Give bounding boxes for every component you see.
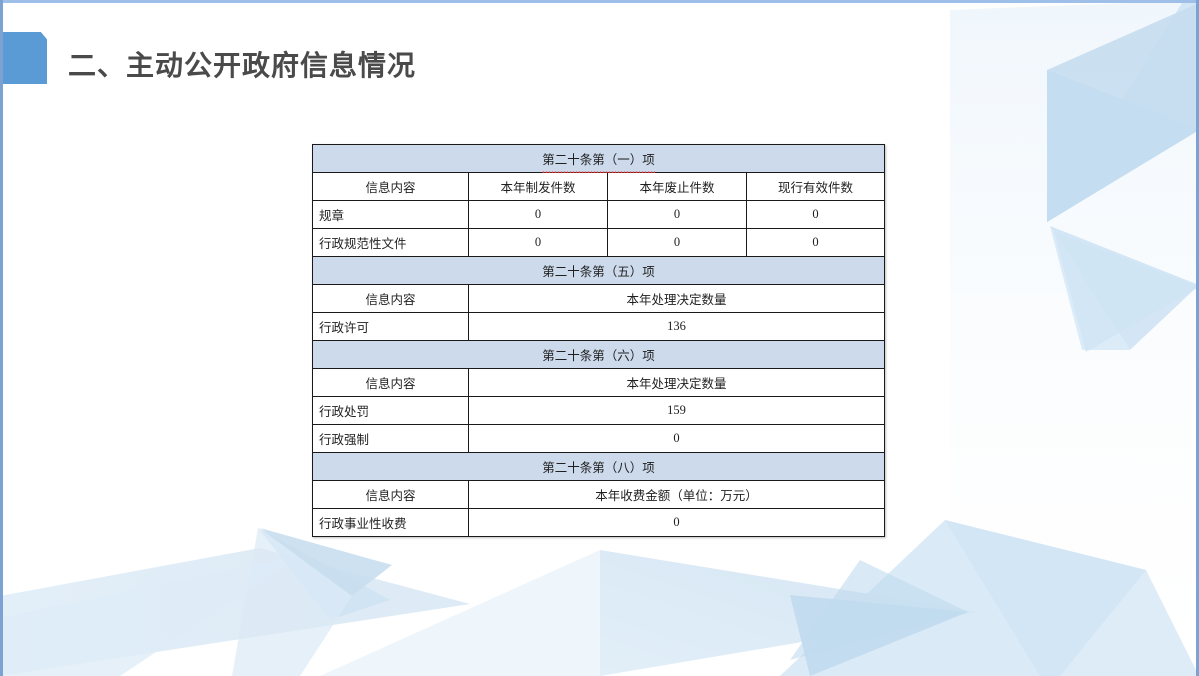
page-title: 二、主动公开政府信息情况 xyxy=(68,44,416,84)
row-label-rules: 规章 xyxy=(313,201,469,229)
section-band-2: 第二十条第（五）项 xyxy=(313,257,885,285)
cell-admin-penalty-count: 159 xyxy=(469,397,885,425)
cell-normative-issued: 0 xyxy=(469,229,608,257)
section-band-4-label: 第二十条第（八）项 xyxy=(542,457,655,476)
table-section-band-row: 第二十条第（一）项 xyxy=(313,145,885,173)
cell-admin-fees-amount: 0 xyxy=(469,509,885,537)
cell-normative-valid: 0 xyxy=(747,229,885,257)
row-label-admin-license: 行政许可 xyxy=(313,313,469,341)
slide-canvas: 二、主动公开政府信息情况 第二十条第（一）项 信息内容 本年制发件数 本年废止件… xyxy=(0,0,1199,676)
header-cell-issued: 本年制发件数 xyxy=(469,173,608,201)
cell-admin-license-count: 136 xyxy=(469,313,885,341)
cell-rules-valid: 0 xyxy=(747,201,885,229)
page-frame-top xyxy=(0,0,1199,3)
row-label-normative-docs: 行政规范性文件 xyxy=(313,229,469,257)
section-band-1: 第二十条第（一）项 xyxy=(313,145,885,173)
header-cell-info-content-4: 信息内容 xyxy=(313,481,469,509)
government-info-disclosure-table: 第二十条第（一）项 信息内容 本年制发件数 本年废止件数 现行有效件数 规章 0… xyxy=(312,144,884,537)
table-row: 行政事业性收费 0 xyxy=(313,509,885,537)
header-cell-decisions-3: 本年处理决定数量 xyxy=(469,369,885,397)
section-band-3: 第二十条第（六）项 xyxy=(313,341,885,369)
page-frame-left xyxy=(0,0,3,676)
cell-rules-abolished: 0 xyxy=(608,201,747,229)
header-cell-decisions-2: 本年处理决定数量 xyxy=(469,285,885,313)
table-row: 行政强制 0 xyxy=(313,425,885,453)
table-header-row: 信息内容 本年收费金额（单位：万元） xyxy=(313,481,885,509)
header-cell-info-content-2: 信息内容 xyxy=(313,285,469,313)
row-label-admin-coercion: 行政强制 xyxy=(313,425,469,453)
cell-admin-coercion-count: 0 xyxy=(469,425,885,453)
section-band-3-label: 第二十条第（六）项 xyxy=(542,345,655,364)
section-band-4: 第二十条第（八）项 xyxy=(313,453,885,481)
row-label-admin-fees: 行政事业性收费 xyxy=(313,509,469,537)
table-row: 行政许可 136 xyxy=(313,313,885,341)
table-section-band-row: 第二十条第（八）项 xyxy=(313,453,885,481)
table-row: 行政处罚 159 xyxy=(313,397,885,425)
header-cell-info-content: 信息内容 xyxy=(313,173,469,201)
table-row: 规章 0 0 0 xyxy=(313,201,885,229)
table-section-band-row: 第二十条第（六）项 xyxy=(313,341,885,369)
section-band-1-label: 第二十条第（一）项 xyxy=(542,149,655,168)
header-cell-valid: 现行有效件数 xyxy=(747,173,885,201)
header-cell-abolished: 本年废止件数 xyxy=(608,173,747,201)
row-label-admin-penalty: 行政处罚 xyxy=(313,397,469,425)
section-marker-icon xyxy=(3,32,47,84)
table-header-row: 信息内容 本年处理决定数量 xyxy=(313,285,885,313)
header-cell-info-content-3: 信息内容 xyxy=(313,369,469,397)
cell-normative-abolished: 0 xyxy=(608,229,747,257)
table-header-row: 信息内容 本年处理决定数量 xyxy=(313,369,885,397)
section-band-2-label: 第二十条第（五）项 xyxy=(542,261,655,280)
table-section-band-row: 第二十条第（五）项 xyxy=(313,257,885,285)
cell-rules-issued: 0 xyxy=(469,201,608,229)
table-header-row: 信息内容 本年制发件数 本年废止件数 现行有效件数 xyxy=(313,173,885,201)
header-cell-fees-4: 本年收费金额（单位：万元） xyxy=(469,481,885,509)
table-row: 行政规范性文件 0 0 0 xyxy=(313,229,885,257)
